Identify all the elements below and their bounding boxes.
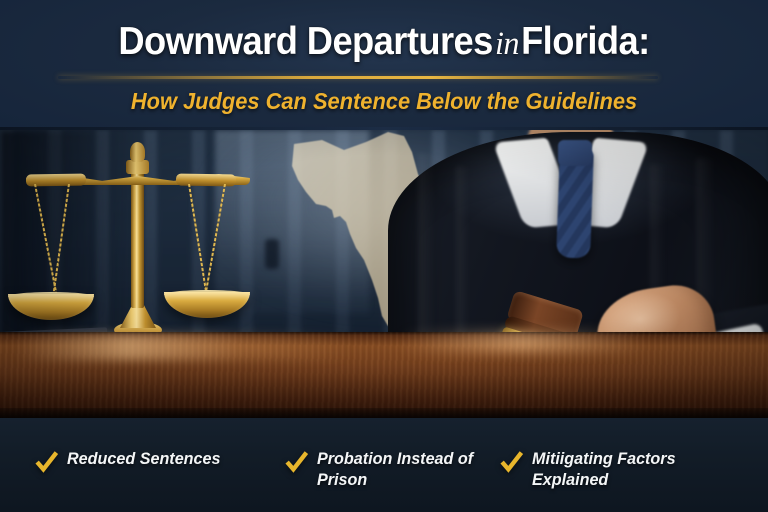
desk-highlight: [399, 332, 645, 352]
scales-post: [131, 168, 144, 308]
scales-finial: [130, 142, 145, 162]
list-item: Probation Instead of Prison: [284, 448, 499, 490]
page-title: Downward DeparturesinFlorida:: [27, 18, 741, 68]
legal-infographic-banner: Downward DeparturesinFlorida: How Judges…: [0, 0, 768, 512]
wooden-desk: [0, 332, 768, 418]
scales-arm-right: [176, 173, 236, 186]
check-icon: [499, 449, 524, 474]
list-item-label: Reduced Sentences: [67, 448, 220, 469]
desk-highlight: [15, 334, 353, 360]
list-item: Reduced Sentences: [34, 448, 284, 474]
header-bar: Downward DeparturesinFlorida: How Judges…: [0, 0, 768, 130]
list-item: Mitiigating Factors Explained: [499, 448, 729, 490]
robe-fold: [456, 166, 470, 346]
door-handle-icon: [265, 239, 279, 269]
hero-photo: [0, 130, 768, 418]
title-connector-in: in: [492, 20, 522, 68]
check-icon: [34, 449, 59, 474]
scales-chain: [188, 184, 207, 295]
robe-fold: [418, 154, 436, 344]
necktie-knot: [558, 140, 592, 166]
footer-bar: Reduced Sentences Probation Instead of P…: [0, 418, 768, 512]
page-subtitle: How Judges Can Sentence Below the Guidel…: [19, 86, 749, 116]
scales-chain: [52, 184, 70, 295]
scales-chain: [205, 184, 226, 295]
list-item-label: Mitiigating Factors Explained: [532, 448, 719, 490]
title-divider: [58, 76, 658, 79]
list-item-label: Probation Instead of Prison: [317, 448, 490, 490]
title-part-one: Downward Departures: [118, 20, 492, 63]
scales-pan-right: [164, 292, 250, 318]
feature-list: Reduced Sentences Probation Instead of P…: [34, 448, 748, 490]
title-part-two: Florida:: [521, 20, 650, 63]
desk-edge: [0, 408, 768, 418]
scales-knob: [126, 160, 149, 174]
check-icon: [284, 449, 309, 474]
scales-pan-left: [8, 294, 94, 320]
